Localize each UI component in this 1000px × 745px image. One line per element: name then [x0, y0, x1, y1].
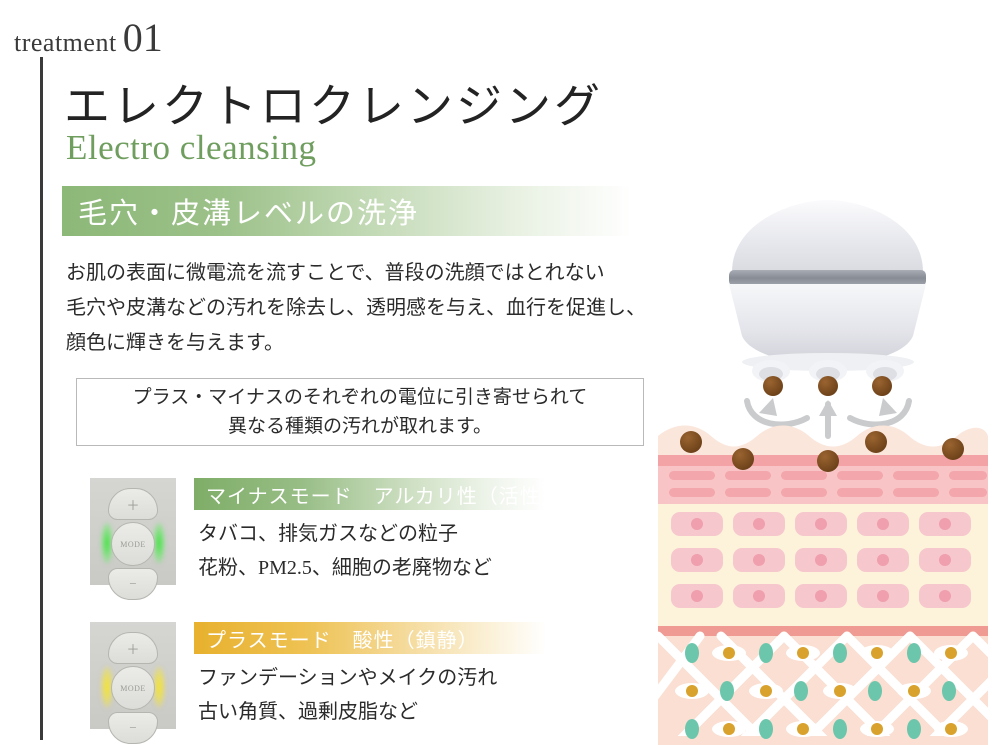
- treatment-label: treatment 01: [14, 18, 163, 58]
- mode-plus-line-1: ファンデーションやメイクの汚れ: [198, 662, 546, 696]
- mode-plus-line-2: 古い角質、過剰皮脂など: [198, 696, 546, 730]
- vertical-rule: [40, 57, 43, 740]
- note-line-1: プラス・マイナスのそれぞれの電位に引き寄せられて: [133, 383, 588, 412]
- treatment-number: 01: [123, 18, 163, 58]
- section-banner: 毛穴・皮溝レベルの洗浄: [62, 186, 632, 236]
- lead-paragraph: お肌の表面に微電流を流すことで、普段の洗顔ではとれない 毛穴や皮溝などの汚れを除…: [66, 256, 646, 361]
- mode-button-icon[interactable]: MODE: [111, 666, 155, 710]
- mode-body-minus: マイナスモード アルカリ性（活性） タバコ、排気ガスなどの粒子 花粉、PM2.5…: [194, 478, 546, 585]
- device-control-panel-plus: ＋ MODE −: [90, 622, 176, 729]
- arrow-heads-icon: [759, 398, 897, 416]
- mode-lines-plus: ファンデーションやメイクの汚れ 古い角質、過剰皮脂など: [194, 662, 546, 729]
- lead-line-1: お肌の表面に微電流を流すことで、普段の洗顔ではとれない: [66, 256, 646, 291]
- mode-minus-line-1: タバコ、排気ガスなどの粒子: [198, 518, 546, 552]
- mode-row-plus: ＋ MODE − プラスモード 酸性（鎮静） ファンデーションやメイクの汚れ 古…: [90, 622, 546, 729]
- page-title-ja: エレクトロクレンジング: [64, 70, 603, 136]
- skin-cross-section-illustration: [655, 186, 1000, 745]
- note-line-2: 異なる種類の汚れが取れます。: [228, 412, 492, 441]
- slide-root: treatment 01 エレクトロクレンジング Electro cleansi…: [0, 0, 1000, 745]
- plus-button-icon[interactable]: ＋: [108, 488, 158, 520]
- mode-label-plus: プラスモード 酸性（鎮静）: [194, 622, 546, 654]
- mode-body-plus: プラスモード 酸性（鎮静） ファンデーションやメイクの汚れ 古い角質、過剰皮脂な…: [194, 622, 546, 729]
- page-title-en: Electro cleansing: [66, 128, 316, 168]
- mode-label-plus-text: プラスモード 酸性（鎮静）: [206, 624, 479, 653]
- lead-line-3: 顔色に輝きを与えます。: [66, 326, 646, 361]
- device-control-panel-minus: ＋ MODE −: [90, 478, 176, 585]
- lead-line-2: 毛穴や皮溝などの汚れを除去し、透明感を与え、血行を促進し、: [66, 291, 646, 326]
- mode-lines-minus: タバコ、排気ガスなどの粒子 花粉、PM2.5、細胞の老廃物など: [194, 518, 546, 585]
- mode-button-icon[interactable]: MODE: [111, 522, 155, 566]
- device-head-icon: [729, 200, 926, 382]
- treatment-word: treatment: [14, 28, 117, 58]
- minus-button-icon[interactable]: −: [108, 712, 158, 744]
- mode-label-minus: マイナスモード アルカリ性（活性）: [194, 478, 546, 510]
- plus-button-icon[interactable]: ＋: [108, 632, 158, 664]
- mode-minus-line-2: 花粉、PM2.5、細胞の老廃物など: [198, 552, 546, 586]
- mode-label-minus-text: マイナスモード アルカリ性（活性）: [206, 480, 562, 509]
- basal-cells: [671, 512, 971, 608]
- skin-layers: [655, 426, 1000, 745]
- section-banner-text: 毛穴・皮溝レベルの洗浄: [78, 190, 419, 232]
- minus-button-icon[interactable]: −: [108, 568, 158, 600]
- mode-row-minus: ＋ MODE − マイナスモード アルカリ性（活性） タバコ、排気ガスなどの粒子…: [90, 478, 546, 585]
- highlight-note-box: プラス・マイナスのそれぞれの電位に引き寄せられて 異なる種類の汚れが取れます。: [76, 378, 644, 446]
